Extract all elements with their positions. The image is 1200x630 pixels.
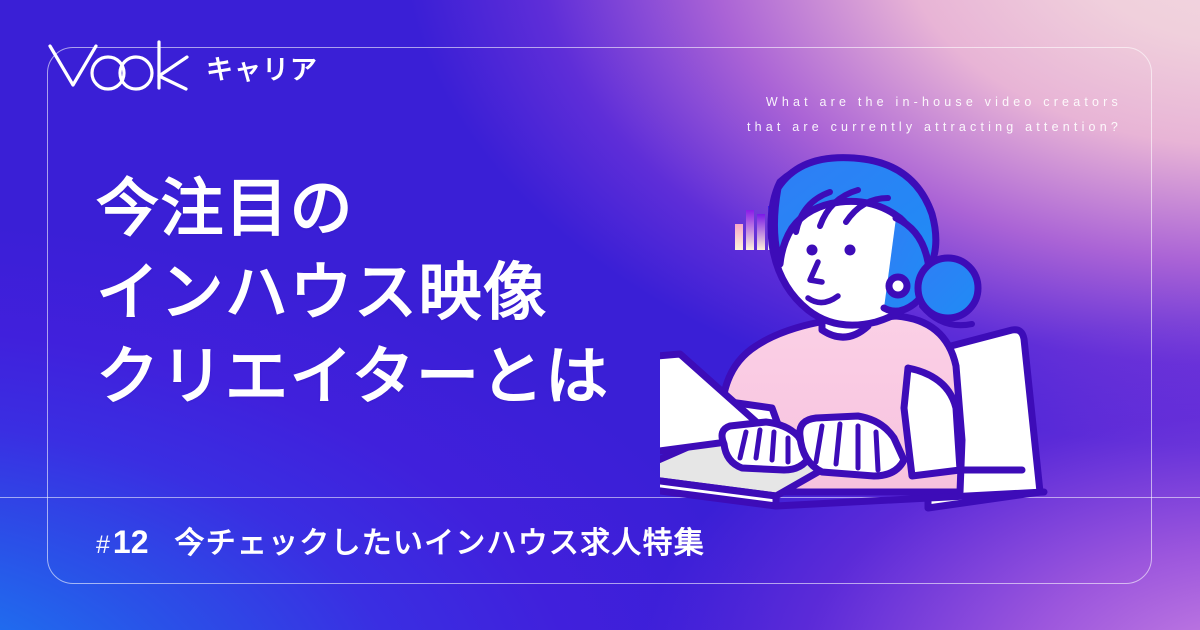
- footer-title: 今チェックしたいインハウス求人特集: [175, 518, 705, 562]
- ear: [889, 277, 907, 295]
- eye-left: [807, 245, 818, 256]
- eye-right: [845, 245, 856, 256]
- english-caption: What are the in-house video creators tha…: [747, 90, 1122, 140]
- logo-subtext: キャリア: [206, 48, 318, 92]
- issue-number: 12: [113, 524, 149, 561]
- banner-canvas: キャリア What are the in-house video creator…: [0, 0, 1200, 630]
- footer-caption: # 12 今チェックしたいインハウス求人特集: [96, 518, 705, 562]
- hash-symbol: #: [96, 531, 110, 560]
- woman-typing-illustration: [660, 140, 1200, 560]
- vook-logo[interactable]: キャリア: [46, 36, 318, 92]
- vook-wordmark-icon: [46, 36, 196, 92]
- headline: 今注目の インハウス映像 クリエイターとは: [96, 168, 609, 419]
